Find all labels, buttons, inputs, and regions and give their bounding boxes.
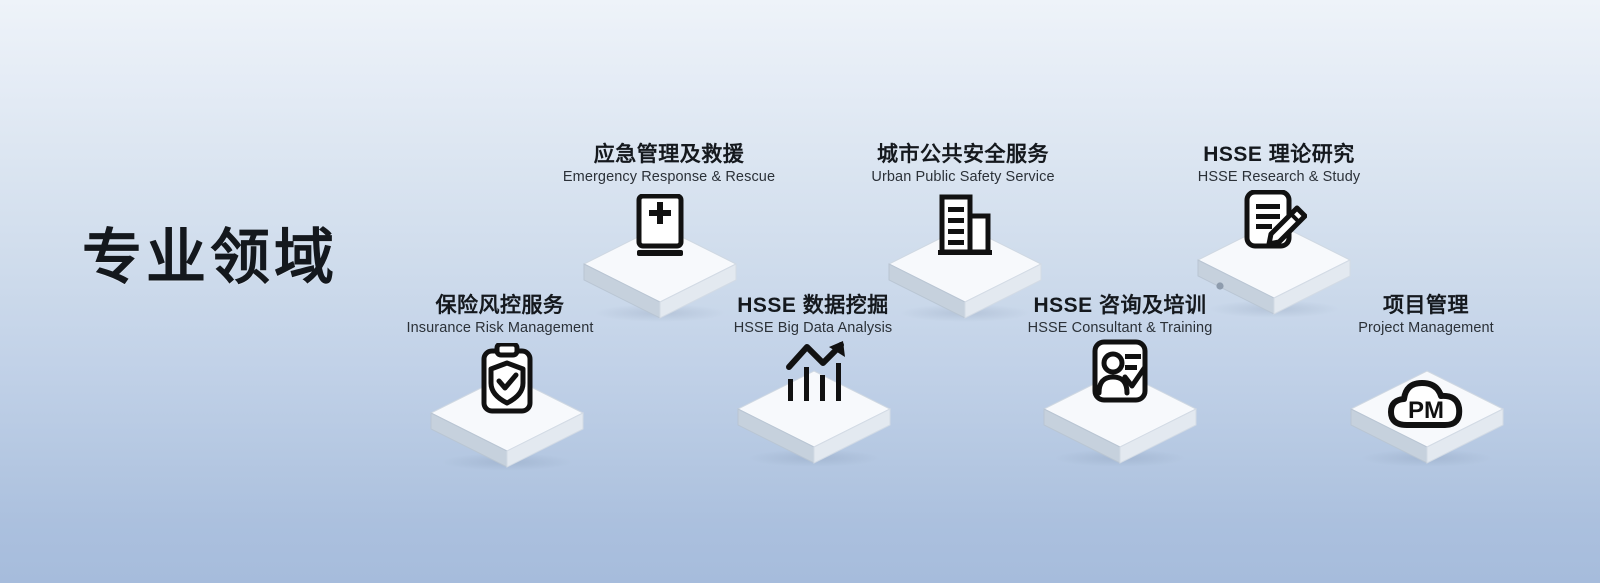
item-title-zh: 保险风控服务 bbox=[350, 295, 650, 317]
item-title-en: Urban Public Safety Service bbox=[813, 170, 1113, 186]
pedestal-project-management: PM bbox=[1347, 339, 1507, 469]
item-title-zh: 应急管理及救援 bbox=[519, 144, 819, 166]
item-title-en: Emergency Response & Rescue bbox=[519, 170, 819, 186]
item-hsse-big-data-analysis[interactable]: HSSE 数据挖掘 HSSE Big Data Analysis bbox=[663, 295, 963, 337]
item-hsse-research-study[interactable]: HSSE 理论研究 HSSE Research & Study bbox=[1129, 144, 1429, 186]
item-insurance-risk-management[interactable]: 保险风控服务 Insurance Risk Management bbox=[350, 295, 650, 337]
pedestal-insurance-risk-management bbox=[427, 343, 587, 473]
cloud-pm-label: PM bbox=[1408, 397, 1444, 424]
item-title-en: HSSE Consultant & Training bbox=[970, 321, 1270, 337]
item-emergency-response-rescue[interactable]: 应急管理及救援 Emergency Response & Rescue bbox=[519, 144, 819, 186]
item-title-zh: HSSE 咨询及培训 bbox=[970, 295, 1270, 317]
pedestal-shadow bbox=[1361, 449, 1493, 467]
item-urban-public-safety-service[interactable]: 城市公共安全服务 Urban Public Safety Service bbox=[813, 144, 1113, 186]
pedestal-cube bbox=[734, 365, 894, 469]
page-title: 专业领域 bbox=[82, 228, 338, 288]
item-title-en: Insurance Risk Management bbox=[350, 321, 650, 337]
item-title-zh: 项目管理 bbox=[1276, 295, 1576, 317]
item-project-management[interactable]: 项目管理 Project Management bbox=[1276, 295, 1576, 337]
pedestal-cube bbox=[427, 369, 587, 473]
bar-chart-trend-icon bbox=[734, 339, 894, 469]
item-title-en: Project Management bbox=[1276, 321, 1576, 337]
item-hsse-consultant-training[interactable]: HSSE 咨询及培训 HSSE Consultant & Training bbox=[970, 295, 1270, 337]
item-title-zh: HSSE 理论研究 bbox=[1129, 144, 1429, 166]
pedestal-shadow bbox=[441, 453, 573, 471]
pedestal-cube bbox=[1040, 365, 1200, 469]
pedestal-hsse-big-data-analysis bbox=[734, 339, 894, 469]
clipboard-shield-check-icon bbox=[427, 343, 587, 473]
pedestal-cube bbox=[1347, 365, 1507, 469]
item-title-zh: 城市公共安全服务 bbox=[813, 144, 1113, 166]
pedestal-hsse-consultant-training bbox=[1040, 339, 1200, 469]
item-title-en: HSSE Research & Study bbox=[1129, 170, 1429, 186]
cloud-pm-icon: PM bbox=[1347, 339, 1507, 515]
id-card-person-check-icon bbox=[1040, 339, 1200, 469]
professional-fields-banner: 专业领域 应急管理及救援 Emergency Response & Rescue… bbox=[0, 0, 1600, 583]
pedestal-shadow bbox=[1054, 449, 1186, 467]
item-title-en: HSSE Big Data Analysis bbox=[663, 321, 963, 337]
pedestal-shadow bbox=[748, 449, 880, 467]
item-title-zh: HSSE 数据挖掘 bbox=[663, 295, 963, 317]
